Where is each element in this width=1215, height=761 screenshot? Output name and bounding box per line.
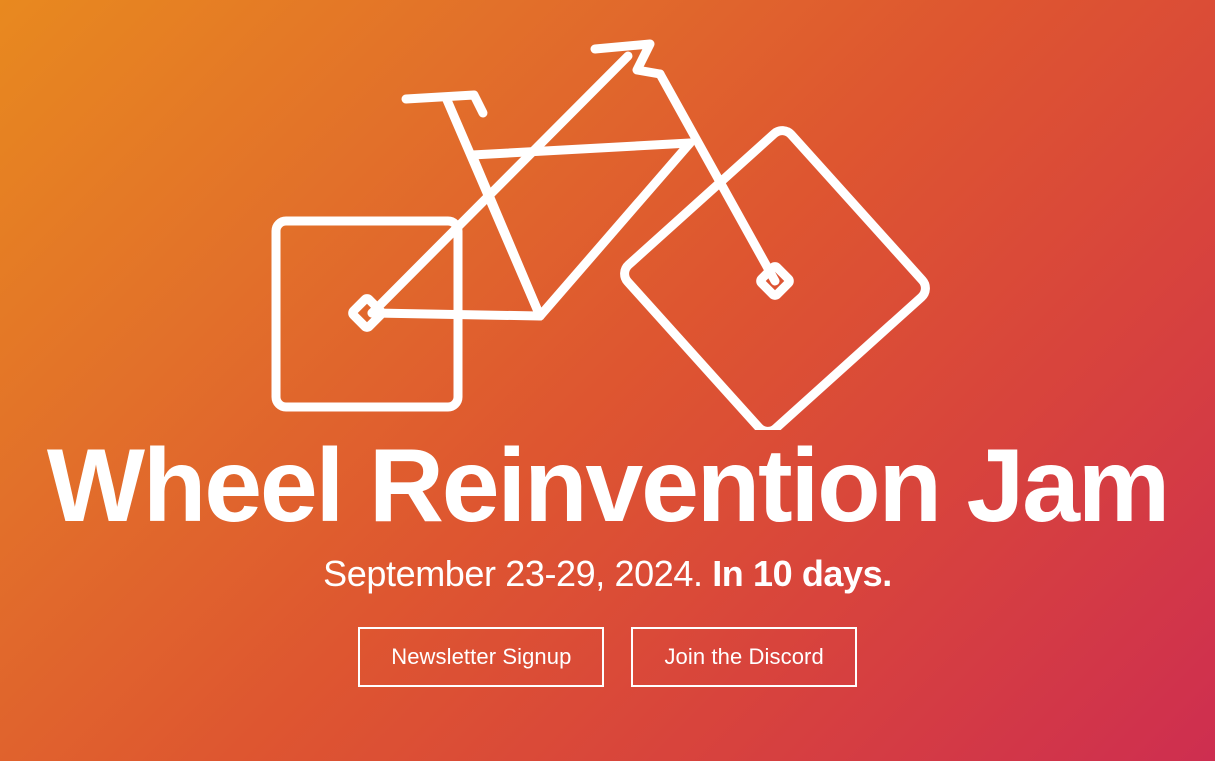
newsletter-signup-button[interactable]: Newsletter Signup [358,627,604,687]
bicycle-illustration [0,0,1215,430]
rear-hub [351,297,382,328]
front-diamond-wheel [620,126,931,430]
fork-lower [447,100,540,316]
front-hub [759,265,790,296]
handlebar [406,95,483,113]
frame-top-tube [472,143,690,155]
frame-seat-tube [540,143,690,316]
event-dates: September 23-29, 2024. [323,553,702,594]
hero-content: Wheel Reinvention Jam September 23-29, 2… [0,432,1215,687]
seat [595,44,660,74]
page-title: Wheel Reinvention Jam [47,432,1168,540]
hero-actions: Newsletter Signup Join the Discord [358,627,857,687]
jam-hero: Wheel Reinvention Jam September 23-29, 2… [0,0,1215,761]
event-dates-line: September 23-29, 2024. In 10 days. [323,554,892,594]
join-discord-button[interactable]: Join the Discord [631,627,856,687]
square-wheel-bicycle-icon [0,0,1215,430]
rear-square-wheel [276,221,458,407]
frame-down-tube [472,155,540,316]
frame-chain-stay [372,313,540,316]
frame-seat-stay [372,56,628,313]
fork-front [660,74,775,281]
countdown-badge: In 10 days. [712,553,892,594]
